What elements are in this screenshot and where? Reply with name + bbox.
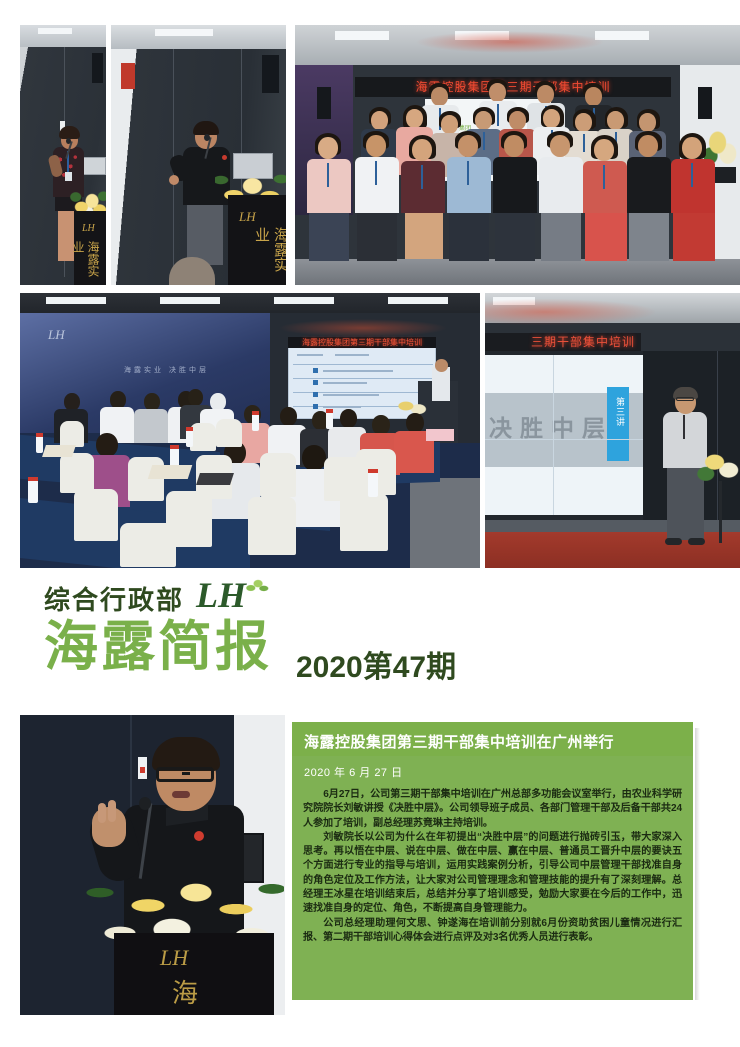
masthead: 综合行政部 LH 海露简报 2020第47期 [0,570,740,700]
eyeglasses-bridge [182,772,190,775]
led-glow [485,299,655,325]
water-bottle [186,429,193,447]
person-hair [59,126,80,139]
chair [120,523,176,567]
person-shoe-left [665,538,682,545]
wall-speaker [92,53,103,83]
ceiling-light [335,31,389,40]
notepad [148,465,193,479]
led-banner-text: 三期干部集中培训 [485,333,641,351]
bottle-cap [170,445,179,449]
microphone-head [66,138,71,144]
article-title: 海露控股集团第三期干部集中培训在广州举行 [304,731,681,752]
led-glow [278,319,448,337]
newsletter-page: LH 海露实业 LH 海露实业 海露控 [0,0,740,1047]
notepad [196,473,234,485]
wall-text: 海露实业 决胜中层 [124,365,209,375]
chair [60,453,94,493]
water-bottle [368,471,378,497]
photo-group: 海露控股集团第三期干部集中培训 LH 海露控股集团 第三期 [295,25,740,285]
photo-podium-man: LH 海露实业 [111,25,286,285]
person-finger [108,800,116,822]
ceiling-light [38,28,72,34]
microphone-head [204,134,210,141]
led-banner-text: 海露控股集团第三期干部集中培训 [355,78,671,96]
leaf-icon [243,576,269,596]
slide-title: 决胜中层 [489,409,613,443]
bottle-cap [252,411,259,415]
lanyard [683,415,685,439]
podium-text: 海露实业 [84,241,100,285]
podium-logo: LH [160,945,188,971]
podium-logo: LH [82,223,100,235]
water-bottle [252,413,259,431]
article-shadow [695,728,700,1000]
led-glow [415,31,605,53]
water-bottle [28,479,38,503]
notepad [42,445,76,457]
article-paragraph: 公司总经理助理何文思、钟遂海在培训前分别就6月份资助贫困儿童情况进行汇报、第二期… [303,917,682,946]
photo-conference-room: LH 海露实业 决胜中层 海露控股集团第三期干部集中培训 [20,293,480,568]
photo-podium-woman: LH 海露实业 [20,25,106,285]
chair [260,453,296,497]
podium-logo: LH [239,209,256,225]
chair [248,497,296,555]
party-pin [194,831,204,841]
person-hand [169,175,179,185]
article-block: 海露控股集团第三期干部集中培训在广州举行 2020 年 6 月 27 日 6月2… [292,722,693,1000]
led-banner-text: 海露控股集团第三期干部集中培训 [288,337,436,348]
presenter-body [432,367,450,401]
issue-number: 2020第47期 [296,642,456,686]
screen-seam-horizontal [485,439,643,440]
ceiling-light [274,297,334,304]
bottle-cap [186,427,193,431]
person-mouth [172,791,190,798]
ceiling-light [155,29,213,36]
name-card [426,429,454,441]
article-date: 2020 年 6 月 27 日 [292,756,693,780]
wall-logo: LH [48,327,65,343]
ceiling-light [388,297,448,304]
department-name: 综合行政部 [44,580,184,617]
bottle-cap [368,469,378,473]
eyeglasses-icon [676,397,694,401]
red-banner [121,63,135,89]
page-title: 海露简报 [44,618,272,676]
microphone-head [139,797,151,810]
party-pin [222,155,227,160]
bottle-cap [28,477,38,481]
person-finger [98,803,106,823]
bottle-cap [326,409,333,413]
mic-stand [719,481,722,543]
ceiling-light [160,297,220,304]
switch-indicator [140,767,145,773]
article-paragraph: 刘敏院长以公司为什么在年初提出“决胜中层”的问题进行抛砖引玉，带大家深入思考。再… [303,831,682,917]
person-hair [193,121,219,135]
podium-text: 海 [172,973,198,1010]
screen-seam-vertical [553,355,554,515]
door-seam [717,351,718,533]
chair [60,421,84,447]
water-bottle [326,411,333,429]
presenter-head [435,359,448,372]
article-body: 6月27日，公司第三期干部集中培训在广州总部多功能会议室举行，由农业科学研究院院… [292,780,693,945]
floor [410,478,480,568]
chair [340,493,388,551]
person-shoe-right [688,538,705,545]
brand-logo-text: LH [196,574,246,616]
photo-speaker-closeup: LH 海 [20,715,285,1015]
chair [190,423,216,451]
slide-tab-text: 第三讲 [609,397,627,427]
flower-arrangement [697,445,740,483]
article-header: 海露控股集团第三期干部集中培训在广州举行 [292,722,693,756]
chair [128,457,164,501]
chair [74,489,118,541]
wall-speaker-left [317,87,331,119]
id-badge [65,172,72,181]
podium-text: 海露实业 [252,227,286,285]
floor [295,259,740,285]
article-paragraph: 6月27日，公司第三期干部集中培训在广州总部多功能会议室举行，由农业科学研究院院… [303,788,682,831]
wall-speaker [262,55,279,93]
chair [216,419,242,447]
ceiling-light [46,297,106,304]
bottle-cap [36,433,43,437]
water-bottle [36,435,43,453]
wall-speaker-right [698,87,712,119]
podium-monitor [82,157,106,175]
photo-lecturer: 三期干部集中培训 决胜中层 第三讲 [485,293,740,568]
